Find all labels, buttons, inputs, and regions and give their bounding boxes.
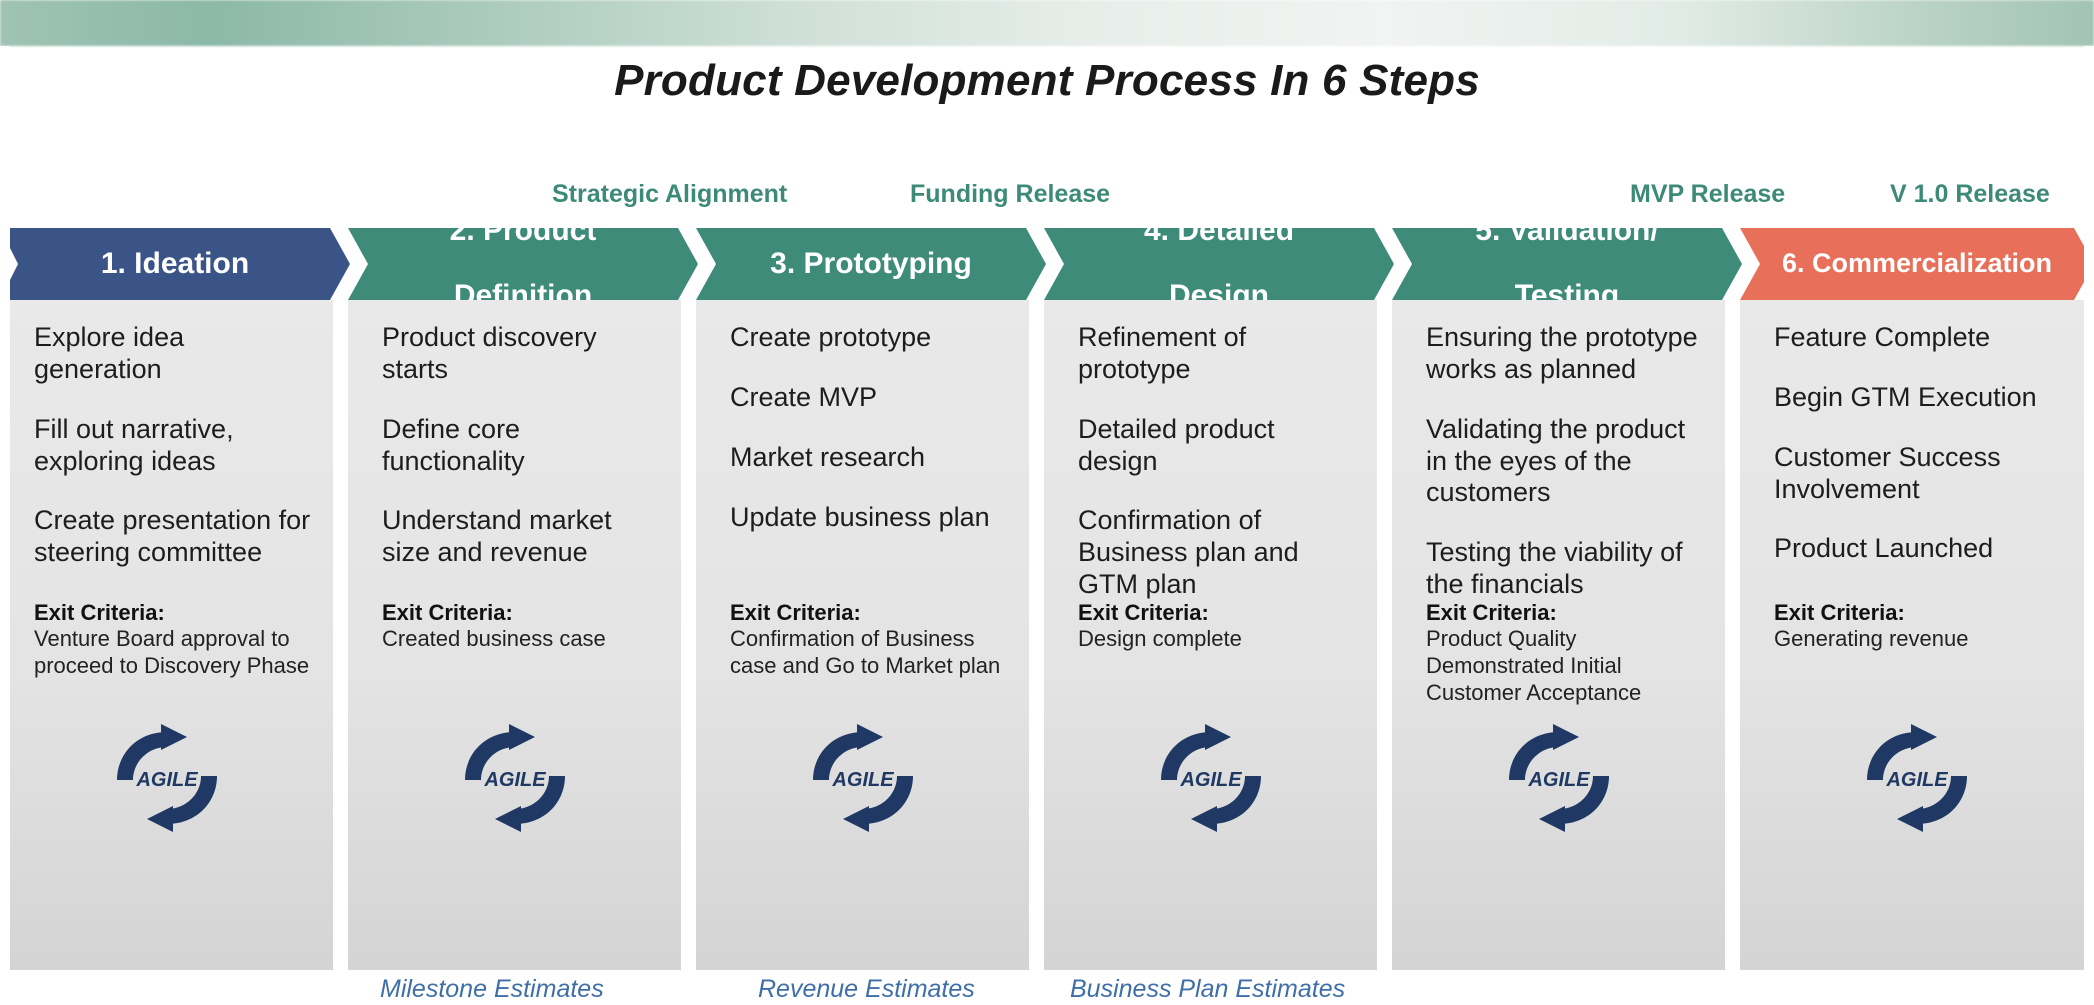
list-item: Create MVP (730, 382, 1011, 414)
exit-criteria-text: Generating revenue (1774, 626, 2076, 653)
step-1-exit-criteria: Exit Criteria: Venture Board approval to… (34, 600, 315, 680)
step-header-3-prototyping[interactable]: 3. Prototyping (696, 228, 1046, 300)
step-column-6: Feature Complete Begin GTM Execution Cus… (1740, 300, 2094, 970)
left-margin (0, 46, 10, 1004)
agile-icon-wrap-3: AGILE (696, 718, 1029, 838)
list-item: Feature Complete (1774, 322, 2076, 354)
list-item: Detailed product design (1078, 414, 1359, 478)
step-header-5-line1: 5. Validation/ (1457, 215, 1676, 247)
list-item: Product Launched (1774, 533, 2076, 565)
bottom-label-revenue-estimates: Revenue Estimates (758, 975, 975, 1004)
agile-icon-wrap-2: AGILE (348, 718, 681, 838)
agile-cycle-icon: AGILE (103, 718, 231, 838)
milestone-label-v1-release: V 1.0 Release (1890, 180, 2050, 209)
step-column-5: Ensuring the prototype works as planned … (1392, 300, 1728, 970)
list-item: Testing the viability of the financials (1426, 537, 1707, 601)
exit-criteria-text: Product Quality Demonstrated Initial Cus… (1426, 626, 1707, 706)
step-1-bullets: Explore idea generation Fill out narrati… (34, 322, 315, 597)
page-title: Product Development Process In 6 Steps (0, 56, 2094, 106)
exit-criteria-label: Exit Criteria: (382, 600, 663, 626)
exit-criteria-text: Venture Board approval to proceed to Dis… (34, 626, 315, 680)
agile-cycle-icon: AGILE (1495, 718, 1623, 838)
exit-criteria-text: Confirmation of Business case and Go to … (730, 626, 1011, 680)
step-header-4-detailed-design[interactable]: 4. Detailed Design (1044, 228, 1394, 300)
step-4-exit-criteria: Exit Criteria: Design complete (1078, 600, 1359, 653)
exit-criteria-text: Design complete (1078, 626, 1359, 653)
exit-criteria-label: Exit Criteria: (730, 600, 1011, 626)
agile-cycle-icon: AGILE (1853, 718, 1981, 838)
bottom-label-row: Milestone Estimates Revenue Estimates Bu… (0, 975, 2094, 1005)
list-item: Product discovery starts (382, 322, 663, 386)
step-header-row: 1. Ideation 2. Product Definition 3. Pro… (0, 228, 2094, 300)
step-5-bullets: Ensuring the prototype works as planned … (1426, 322, 1707, 629)
milestone-label-strategic-alignment: Strategic Alignment (552, 180, 787, 209)
step-4-bullets: Refinement of prototype Detailed product… (1078, 322, 1359, 629)
step-6-exit-criteria: Exit Criteria: Generating revenue (1774, 600, 2076, 653)
step-header-3-line1: 3. Prototyping (752, 248, 990, 280)
agile-icon-wrap-1: AGILE (0, 718, 333, 838)
milestone-label-mvp-release: MVP Release (1630, 180, 1785, 209)
right-margin (2084, 46, 2094, 1004)
step-header-1-ideation[interactable]: 1. Ideation (0, 228, 350, 300)
step-column-3: Create prototype Create MVP Market resea… (696, 300, 1032, 970)
agile-icon-label: AGILE (1885, 769, 1948, 791)
step-column-1: Explore idea generation Fill out narrati… (0, 300, 336, 970)
agile-icon-wrap-4: AGILE (1044, 718, 1377, 838)
list-item: Refinement of prototype (1078, 322, 1359, 386)
step-2-exit-criteria: Exit Criteria: Created business case (382, 600, 663, 653)
exit-criteria-label: Exit Criteria: (34, 600, 315, 626)
step-header-2-line1: 2. Product (432, 215, 615, 247)
step-3-bullets: Create prototype Create MVP Market resea… (730, 322, 1011, 561)
agile-cycle-icon: AGILE (1147, 718, 1275, 838)
exit-criteria-label: Exit Criteria: (1774, 600, 2076, 626)
list-item: Understand market size and revenue (382, 505, 663, 569)
bottom-label-milestone-estimates: Milestone Estimates (380, 975, 604, 1004)
milestone-label-funding-release: Funding Release (910, 180, 1110, 209)
list-item: Confirmation of Business plan and GTM pl… (1078, 505, 1359, 601)
step-header-6-line1: 6. Commercialization (1764, 249, 2070, 278)
list-item: Create presentation for steering committ… (34, 505, 315, 569)
step-header-1-line1: 1. Ideation (83, 248, 267, 280)
agile-icon-label: AGILE (1179, 769, 1242, 791)
list-item: Define core functionality (382, 414, 663, 478)
step-header-6-commercialization[interactable]: 6. Commercialization (1740, 228, 2094, 300)
step-6-bullets: Feature Complete Begin GTM Execution Cus… (1774, 322, 2076, 593)
exit-criteria-label: Exit Criteria: (1426, 600, 1707, 626)
list-item: Update business plan (730, 502, 1011, 534)
step-header-5-validation-testing[interactable]: 5. Validation/ Testing (1392, 228, 1742, 300)
bottom-label-business-plan-estimates: Business Plan Estimates (1070, 975, 1345, 1004)
agile-icon-label: AGILE (1527, 769, 1590, 791)
step-3-exit-criteria: Exit Criteria: Confirmation of Business … (730, 600, 1011, 680)
milestone-label-row: Strategic Alignment Funding Release MVP … (0, 180, 2094, 212)
decorative-top-band (0, 0, 2094, 46)
step-column-2: Product discovery starts Define core fun… (348, 300, 684, 970)
step-header-4-line1: 4. Detailed (1126, 215, 1312, 247)
list-item: Ensuring the prototype works as planned (1426, 322, 1707, 386)
step-5-exit-criteria: Exit Criteria: Product Quality Demonstra… (1426, 600, 1707, 707)
step-column-4: Refinement of prototype Detailed product… (1044, 300, 1380, 970)
list-item: Create prototype (730, 322, 1011, 354)
step-columns: Explore idea generation Fill out narrati… (0, 300, 2094, 970)
agile-icon-label: AGILE (831, 769, 894, 791)
exit-criteria-text: Created business case (382, 626, 663, 653)
list-item: Fill out narrative, exploring ideas (34, 414, 315, 478)
list-item: Market research (730, 442, 1011, 474)
step-2-bullets: Product discovery starts Define core fun… (382, 322, 663, 597)
agile-icon-label: AGILE (483, 769, 546, 791)
agile-icon-label: AGILE (135, 769, 198, 791)
list-item: Explore idea generation (34, 322, 315, 386)
agile-cycle-icon: AGILE (451, 718, 579, 838)
agile-icon-wrap-6: AGILE (1740, 718, 2094, 838)
list-item: Begin GTM Execution (1774, 382, 2076, 414)
step-header-2-product-definition[interactable]: 2. Product Definition (348, 228, 698, 300)
list-item: Validating the product in the eyes of th… (1426, 414, 1707, 510)
agile-cycle-icon: AGILE (799, 718, 927, 838)
agile-icon-wrap-5: AGILE (1392, 718, 1725, 838)
list-item: Customer Success Involvement (1774, 442, 2076, 506)
exit-criteria-label: Exit Criteria: (1078, 600, 1359, 626)
